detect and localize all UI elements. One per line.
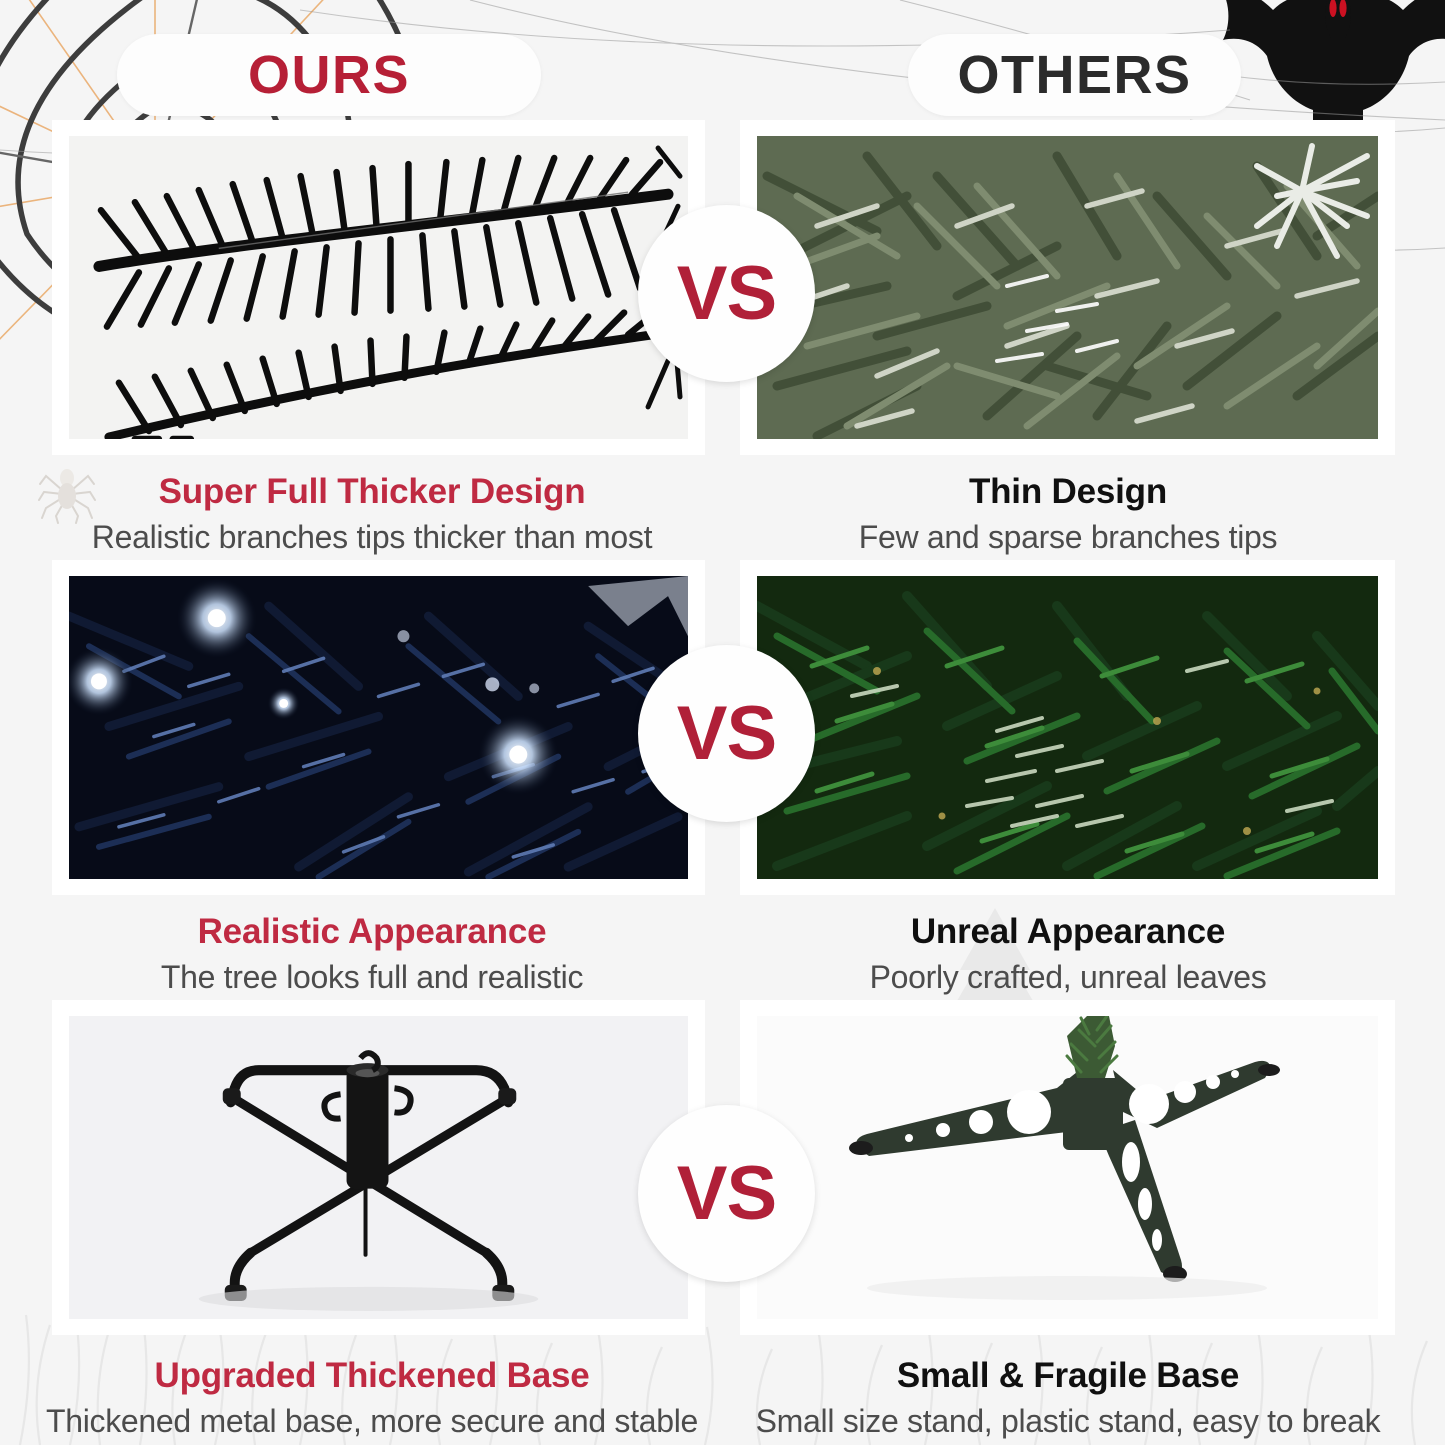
comparison-row: VS Realistic Appearance The tree looks f… (0, 560, 1445, 1000)
vs-label: VS (677, 1156, 776, 1232)
ours-photo-metal-tree-stand (69, 1016, 688, 1319)
ours-caption: Realistic Appearance The tree looks full… (32, 912, 712, 997)
ours-caption-title: Upgraded Thickened Base (32, 1356, 712, 1396)
others-image-card (740, 560, 1395, 895)
others-caption: Thin Design Few and sparse branches tips (728, 472, 1408, 557)
others-caption-title: Small & Fragile Base (728, 1356, 1408, 1396)
ours-caption-subtitle: Realistic branches tips thicker than mos… (32, 518, 712, 556)
others-caption-subtitle: Few and sparse branches tips (728, 518, 1408, 556)
others-caption-title: Thin Design (728, 472, 1408, 512)
others-caption-title: Unreal Appearance (728, 912, 1408, 952)
others-image-card (740, 1000, 1395, 1335)
comparison-infographic: OURS OTHERS (0, 0, 1445, 1445)
ours-image-card (52, 1000, 705, 1335)
comparison-row: VS Super Full Thicker Design Realistic b… (0, 120, 1445, 560)
spider-icon (38, 462, 96, 524)
comparison-row: VS Upgraded Thickened Base Thickened met… (0, 1000, 1445, 1445)
others-caption: Unreal Appearance Poorly crafted, unreal… (728, 912, 1408, 997)
vs-badge: VS (638, 1105, 815, 1282)
others-photo-dark-green-needles (757, 576, 1378, 879)
ours-caption: Upgraded Thickened Base Thickened metal … (32, 1356, 712, 1441)
ours-caption: Super Full Thicker Design Realistic bran… (32, 472, 712, 557)
vs-label: VS (677, 256, 776, 332)
ours-image-card (52, 120, 705, 455)
ours-caption-title: Super Full Thicker Design (32, 472, 712, 512)
others-image-card (740, 120, 1395, 455)
ours-caption-title: Realistic Appearance (32, 912, 712, 952)
vs-badge: VS (638, 645, 815, 822)
comparison-rows: VS Super Full Thicker Design Realistic b… (0, 0, 1445, 1445)
others-photo-sparse-needles (757, 136, 1378, 439)
ours-image-card (52, 560, 705, 895)
vs-badge: VS (638, 205, 815, 382)
ours-caption-subtitle: The tree looks full and realistic (32, 958, 712, 996)
others-caption: Small & Fragile Base Small size stand, p… (728, 1356, 1408, 1441)
vs-label: VS (677, 696, 776, 772)
ours-caption-subtitle: Thickened metal base, more secure and st… (32, 1402, 712, 1440)
ours-photo-lit-black-tree (69, 576, 688, 879)
ours-photo-black-branch (69, 136, 688, 439)
others-caption-subtitle: Poorly crafted, unreal leaves (728, 958, 1408, 996)
others-caption-subtitle: Small size stand, plastic stand, easy to… (728, 1402, 1408, 1440)
others-photo-plastic-tree-stand (757, 1016, 1378, 1319)
